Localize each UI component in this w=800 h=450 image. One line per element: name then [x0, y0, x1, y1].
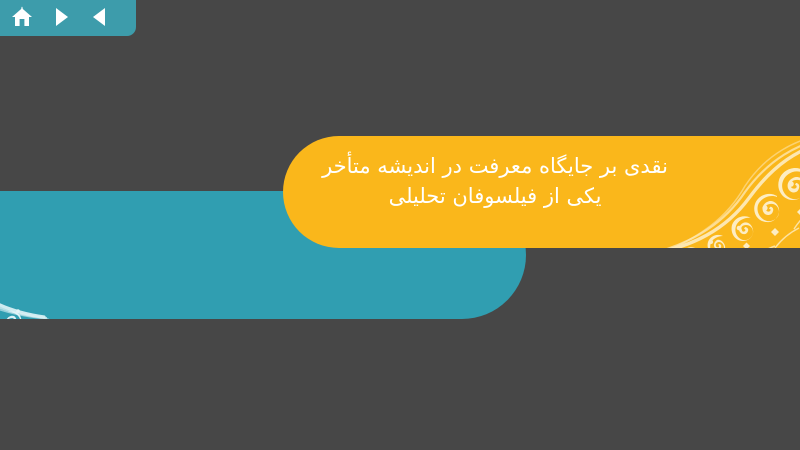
teal-arabesque-ornament-icon — [0, 191, 130, 319]
home-icon — [10, 5, 34, 29]
triangle-right-icon — [50, 6, 72, 28]
home-button[interactable] — [9, 4, 35, 30]
slide-navigation-bar — [0, 0, 136, 36]
orange-banner-shape — [283, 136, 800, 248]
presentation-slide: نقدی بر جایگاه معرفت در اندیشه متأخر یکی… — [0, 0, 800, 450]
next-slide-button[interactable] — [48, 4, 74, 30]
previous-slide-button[interactable] — [87, 4, 113, 30]
orange-arabesque-ornament-icon — [663, 136, 800, 248]
triangle-left-icon — [89, 6, 111, 28]
